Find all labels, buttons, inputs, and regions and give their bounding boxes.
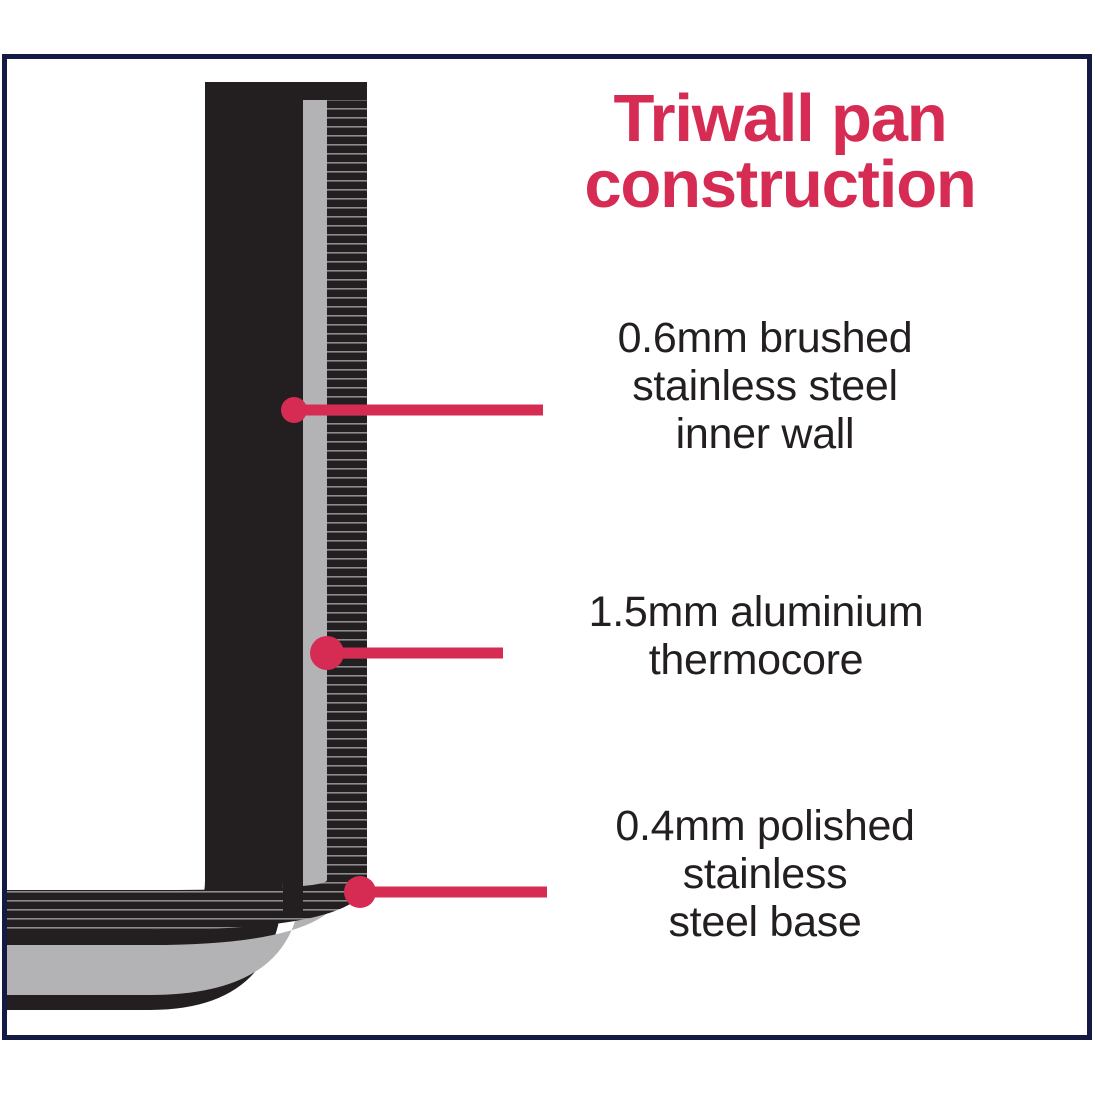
page-title: Triwall pan construction [520,86,1040,217]
callout-label-base: 0.4mm polished stainless steel base [545,802,985,946]
outer-shell-left [0,82,283,1010]
leader-dot-base [344,876,376,908]
leader-dot-thermocore [310,636,344,670]
callout-label-thermocore: 1.5mm aluminium thermocore [508,588,1004,684]
outer-shell-left-edge [283,82,303,912]
leader-dot-inner-wall [281,397,307,423]
callout-label-inner-wall: 0.6mm brushed stainless steel inner wall [540,314,990,458]
infographic-canvas: Triwall pan construction 0.6mm brushed s… [0,0,1100,1100]
